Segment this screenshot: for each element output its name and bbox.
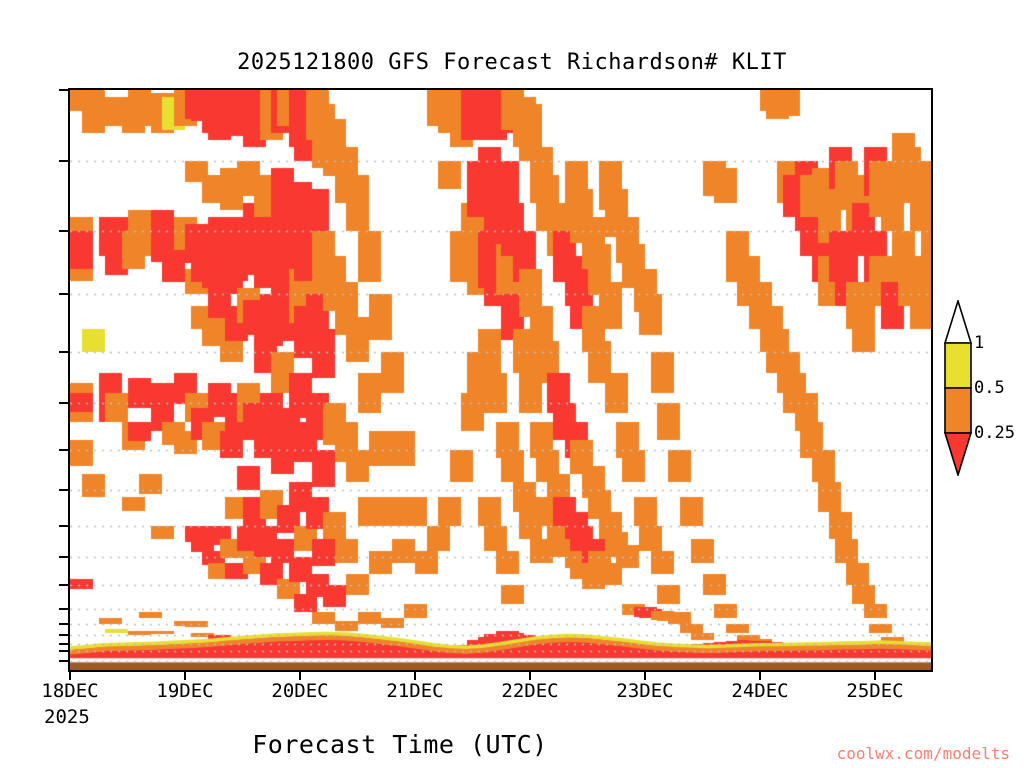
x-axis-tick-mark (759, 671, 761, 680)
y-axis-tick-mark (59, 351, 68, 353)
y-axis-tick-mark (59, 230, 68, 232)
x-axis-tick-label: 22DEC (501, 680, 558, 702)
colorbar-swatches (944, 300, 972, 476)
x-axis-tick-mark (69, 671, 71, 680)
y-axis-tick-mark (59, 402, 68, 404)
y-axis-tick-mark (59, 89, 68, 91)
y-axis-tick-mark (59, 489, 68, 491)
x-axis-tick-mark (184, 671, 186, 680)
x-axis-tick-mark (644, 671, 646, 680)
y-axis-tick-mark (59, 525, 68, 527)
y-axis-tick-mark (59, 449, 68, 451)
colorbar-tick-label: 1 (974, 333, 984, 353)
watermark-credit: coolwx.com/modelts (837, 744, 1010, 763)
y-axis-tick-mark (59, 160, 68, 162)
x-axis-tick-label: 21DEC (386, 680, 443, 702)
x-axis-tick-label: 19DEC (156, 680, 213, 702)
y-axis-tick-mark (59, 556, 68, 558)
x-axis-tick-label: 23DEC (616, 680, 673, 702)
y-axis-tick-mark (59, 584, 68, 586)
x-axis-tick-label: 25DEC (846, 680, 903, 702)
y-axis-tick-mark (59, 650, 68, 652)
y-axis-tick-mark (59, 660, 68, 662)
plot-area (68, 88, 933, 672)
x-axis-tick-label: 24DEC (731, 680, 788, 702)
x-axis-tick-mark (414, 671, 416, 680)
colorbar-legend (944, 300, 970, 470)
colorbar-tick-label: 0.5 (974, 378, 1005, 398)
y-axis-tick-mark (59, 643, 68, 645)
x-axis-year-label: 2025 (44, 706, 90, 728)
x-axis-tick-mark (529, 671, 531, 680)
gridlines-canvas (70, 90, 931, 670)
x-axis-title: Forecast Time (UTC) (0, 730, 800, 759)
x-axis-tick-label: 20DEC (271, 680, 328, 702)
x-axis-tick-mark (299, 671, 301, 680)
y-axis-tick-mark (59, 608, 68, 610)
colorbar-tick-label: 0.25 (974, 423, 1015, 443)
x-axis-tick-label: 18DEC (41, 680, 98, 702)
page-title: 2025121800 GFS Forecast Richardson# KLIT (0, 50, 1024, 75)
x-axis-tick-mark (874, 671, 876, 680)
y-axis-tick-mark (59, 293, 68, 295)
y-axis-tick-mark (59, 634, 68, 636)
y-axis-tick-mark (59, 623, 68, 625)
